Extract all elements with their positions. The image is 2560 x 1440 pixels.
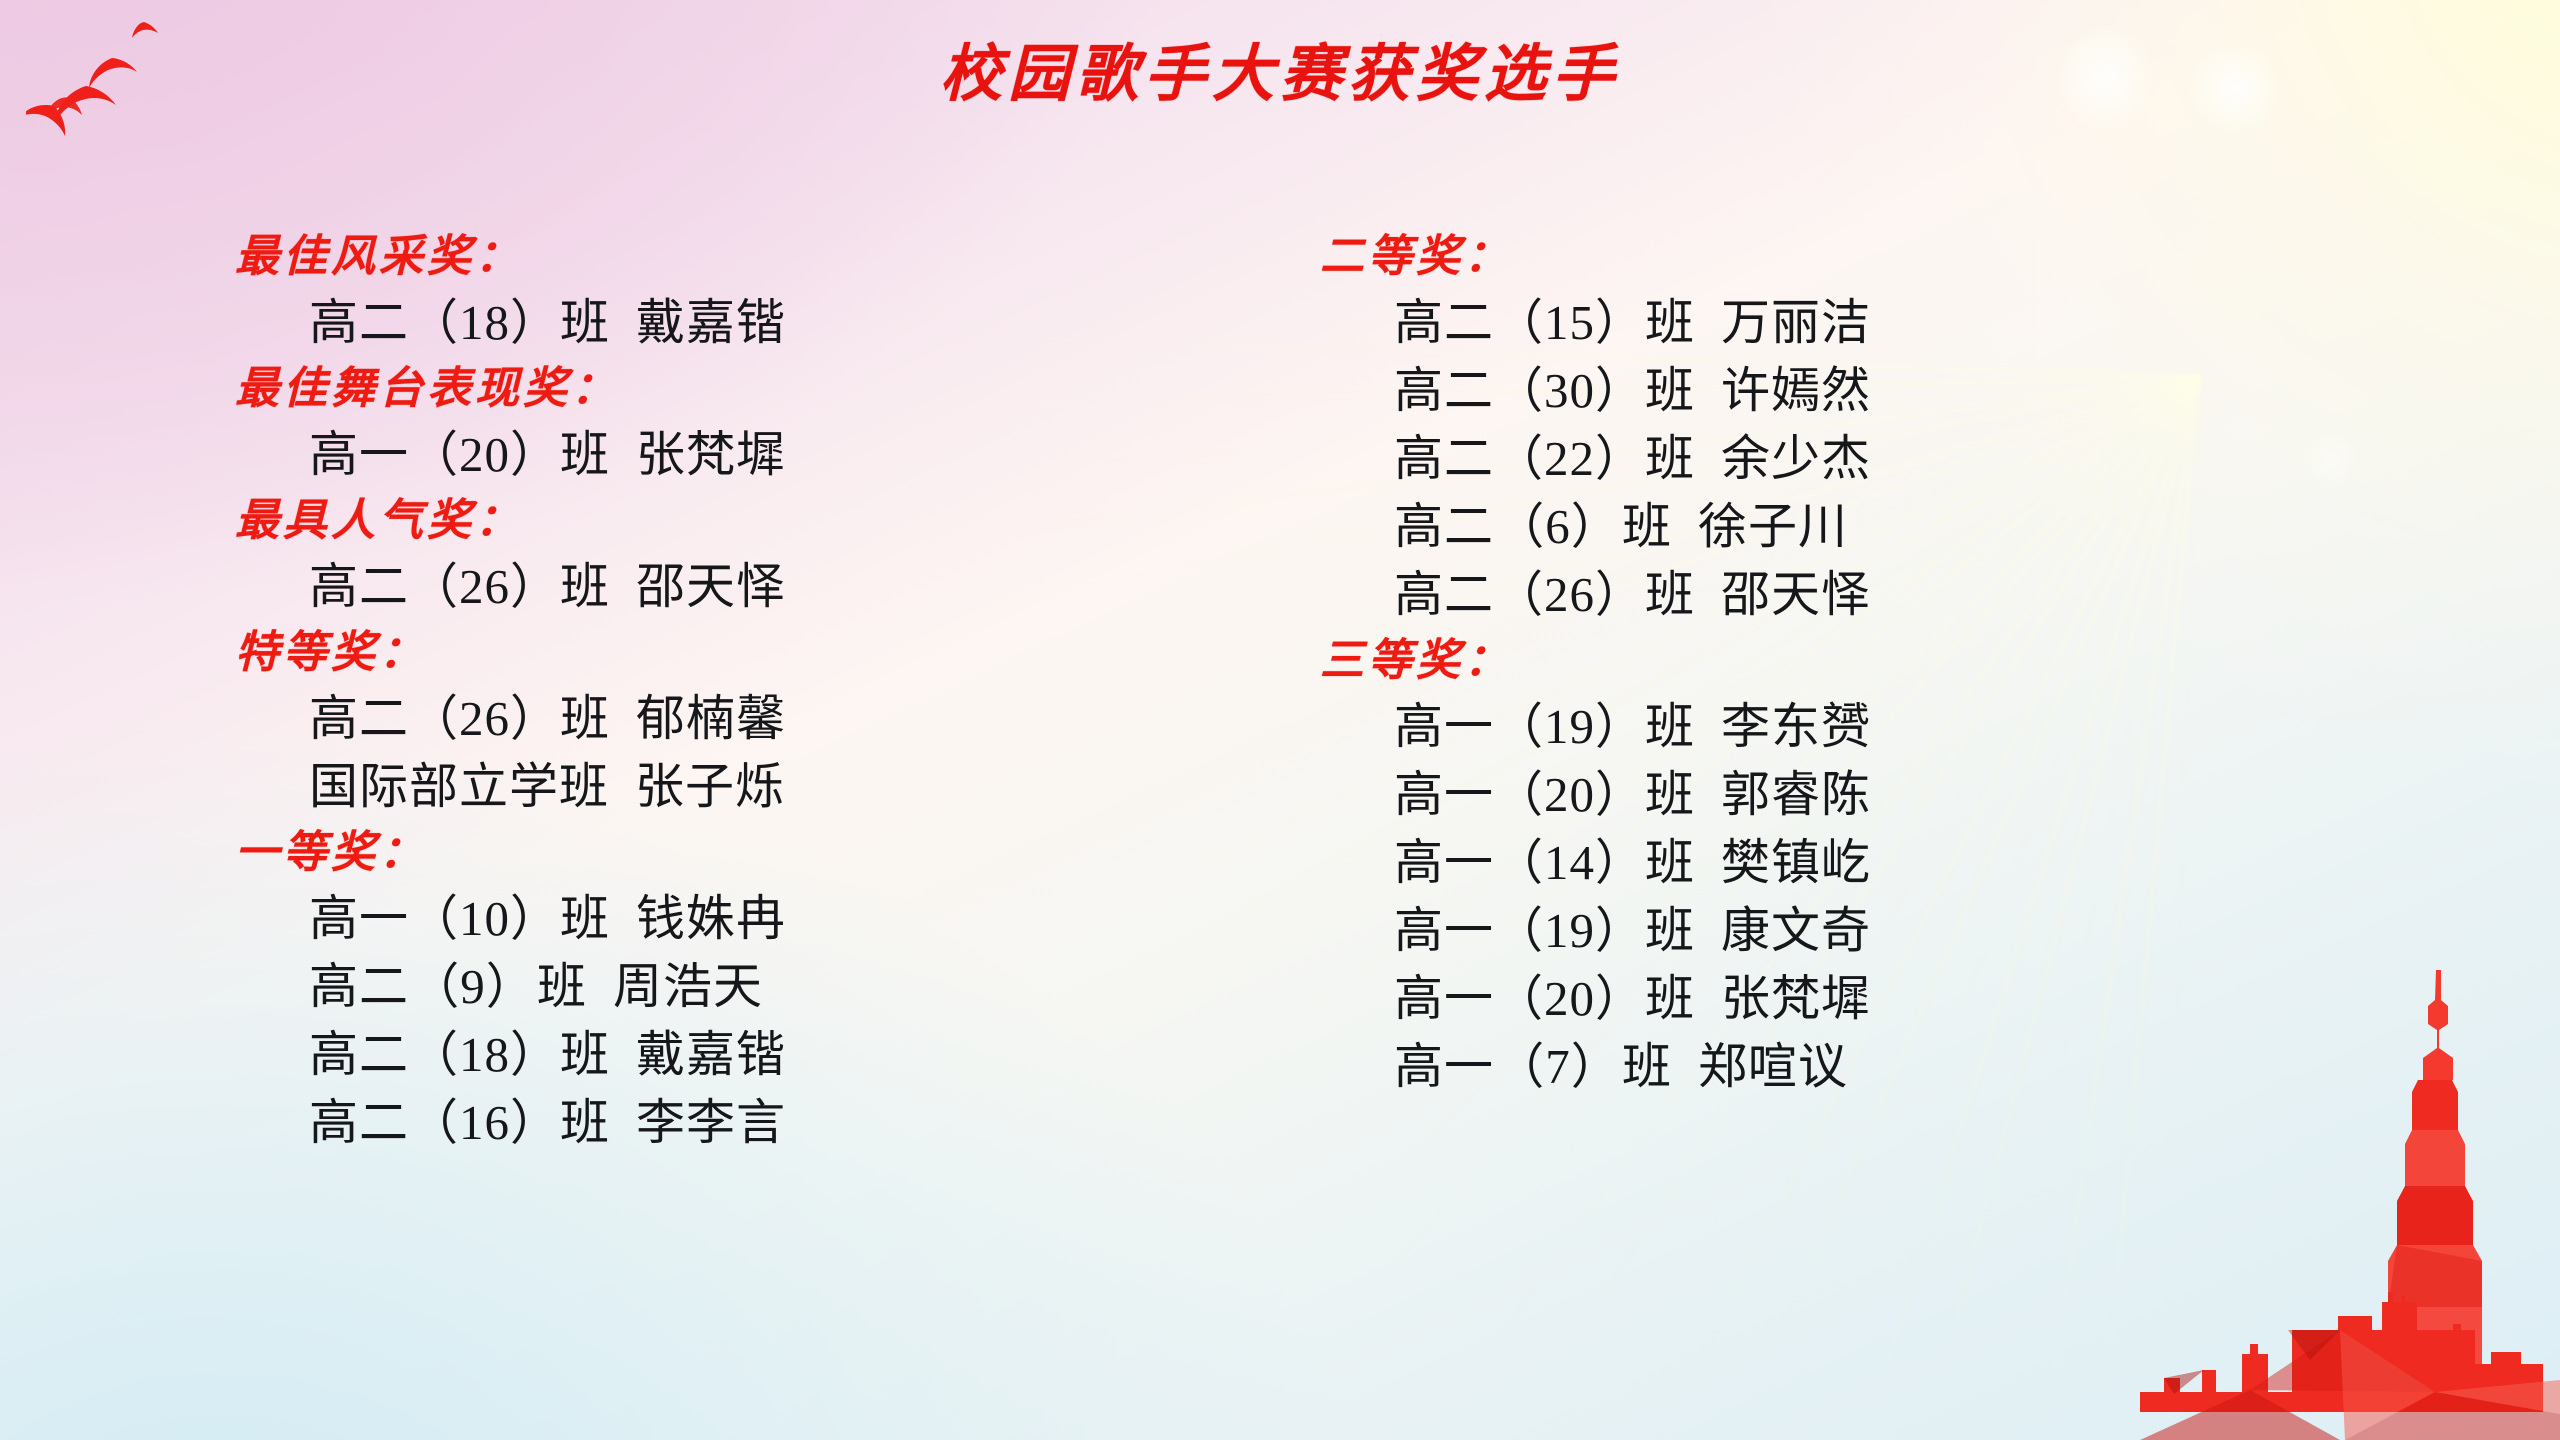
entry-grade: 高二 bbox=[1394, 502, 1494, 551]
award-entry: 高一（19）班康文奇 bbox=[1320, 906, 2320, 955]
entry-student-name: 周浩天 bbox=[587, 962, 763, 1011]
award-entry: 高二（16）班李李言 bbox=[235, 1098, 1235, 1147]
award-entry: 高二（6）班徐子川 bbox=[1320, 502, 2320, 551]
award-entry: 高一（20）班张梵墀 bbox=[235, 430, 1235, 479]
entry-student-name: 郁楠馨 bbox=[610, 694, 786, 743]
award-entry: 高二（26）班邵天怿 bbox=[1320, 570, 2320, 619]
entry-student-name: 郭睿陈 bbox=[1695, 770, 1871, 819]
entry-student-name: 钱姝冉 bbox=[610, 894, 786, 943]
entry-class-suffix: 班 bbox=[537, 962, 587, 1011]
entry-student-name: 李李言 bbox=[610, 1098, 786, 1147]
entry-grade: 高二 bbox=[1394, 298, 1494, 347]
award-entry: 高二（18）班戴嘉锴 bbox=[235, 1030, 1235, 1079]
entry-class-suffix: 班 bbox=[560, 1098, 610, 1147]
entry-class-number: （6） bbox=[1494, 502, 1622, 551]
award-category-heading: 特等奖： bbox=[235, 631, 1235, 675]
entry-student-name: 张子烁 bbox=[609, 762, 785, 811]
entry-class-suffix: 班 bbox=[1645, 974, 1695, 1023]
award-entry: 高一（20）班郭睿陈 bbox=[1320, 770, 2320, 819]
entry-class-suffix: 班 bbox=[560, 894, 610, 943]
entry-class-number: （7） bbox=[1494, 1042, 1622, 1091]
entry-student-name: 戴嘉锴 bbox=[610, 298, 786, 347]
entry-class-number: （18） bbox=[409, 1030, 560, 1079]
award-entry: 高一（10）班钱姝冉 bbox=[235, 894, 1235, 943]
entry-grade: 高二 bbox=[309, 298, 409, 347]
entry-class-number: （26） bbox=[409, 562, 560, 611]
entry-class-suffix: 班 bbox=[1645, 770, 1695, 819]
entry-class-number: （20） bbox=[1494, 974, 1645, 1023]
award-category-heading: 三等奖： bbox=[1320, 639, 2320, 683]
award-category-heading: 二等奖： bbox=[1320, 235, 2320, 279]
entry-class-suffix: 班 bbox=[560, 430, 610, 479]
entry-student-name: 邵天怿 bbox=[610, 562, 786, 611]
entry-grade: 高一 bbox=[1394, 974, 1494, 1023]
entry-student-name: 张梵墀 bbox=[1695, 974, 1871, 1023]
entry-class-suffix: 班 bbox=[1622, 502, 1672, 551]
entry-grade: 高二 bbox=[1394, 366, 1494, 415]
taipei101-skyline-icon bbox=[2140, 960, 2560, 1440]
entry-grade: 高一 bbox=[1394, 702, 1494, 751]
entry-grade: 高二 bbox=[1394, 434, 1494, 483]
award-entry: 高二（18）班戴嘉锴 bbox=[235, 298, 1235, 347]
entry-grade: 高一 bbox=[309, 430, 409, 479]
entry-class-special: 国际部立学班 bbox=[309, 759, 609, 814]
entry-class-suffix: 班 bbox=[560, 562, 610, 611]
award-category-heading: 最佳舞台表现奖： bbox=[235, 367, 1235, 411]
entry-grade: 高二 bbox=[309, 1098, 409, 1147]
entry-grade: 高二 bbox=[309, 694, 409, 743]
award-entry: 高一（19）班李东赟 bbox=[1320, 702, 2320, 751]
entry-class-number: （22） bbox=[1494, 434, 1645, 483]
entry-class-number: （15） bbox=[1494, 298, 1645, 347]
slide-canvas: 校园歌手大赛获奖选手 最佳风采奖：高二（18）班戴嘉锴最佳舞台表现奖：高一（20… bbox=[0, 0, 2560, 1440]
skyline-decoration bbox=[2140, 960, 2560, 1440]
entry-class-number: （16） bbox=[409, 1098, 560, 1147]
entry-class-suffix: 班 bbox=[1645, 366, 1695, 415]
entry-class-number: （14） bbox=[1494, 838, 1645, 887]
entry-grade: 高二 bbox=[309, 962, 409, 1011]
award-entry: 高二（26）班邵天怿 bbox=[235, 562, 1235, 611]
award-entry: 高二（22）班余少杰 bbox=[1320, 434, 2320, 483]
entry-grade: 高一 bbox=[1394, 906, 1494, 955]
award-category-heading: 最具人气奖： bbox=[235, 499, 1235, 543]
entry-class-suffix: 班 bbox=[1645, 570, 1695, 619]
entry-student-name: 戴嘉锴 bbox=[610, 1030, 786, 1079]
entry-class-suffix: 班 bbox=[1645, 434, 1695, 483]
entry-class-number: （18） bbox=[409, 298, 560, 347]
award-entry: 高二（15）班万丽洁 bbox=[1320, 298, 2320, 347]
entry-class-number: （10） bbox=[409, 894, 560, 943]
entry-student-name: 李东赟 bbox=[1695, 702, 1871, 751]
entry-student-name: 郑喧议 bbox=[1672, 1042, 1848, 1091]
entry-student-name: 余少杰 bbox=[1695, 434, 1871, 483]
award-entry: 高二（26）班郁楠馨 bbox=[235, 694, 1235, 743]
entry-class-suffix: 班 bbox=[1645, 298, 1695, 347]
entry-class-number: （9） bbox=[409, 962, 537, 1011]
award-entry: 高二（9）班周浩天 bbox=[235, 962, 1235, 1011]
award-category-heading: 最佳风采奖： bbox=[235, 235, 1235, 279]
entry-grade: 高二 bbox=[309, 562, 409, 611]
award-column-left: 最佳风采奖：高二（18）班戴嘉锴最佳舞台表现奖：高一（20）班张梵墀最具人气奖：… bbox=[235, 235, 1235, 1147]
entry-student-name: 徐子川 bbox=[1672, 502, 1848, 551]
entry-student-name: 康文奇 bbox=[1695, 906, 1871, 955]
entry-student-name: 许嫣然 bbox=[1695, 366, 1871, 415]
entry-student-name: 万丽洁 bbox=[1695, 298, 1871, 347]
award-entry: 高二（30）班许嫣然 bbox=[1320, 366, 2320, 415]
entry-class-suffix: 班 bbox=[1622, 1042, 1672, 1091]
entry-grade: 高一 bbox=[1394, 1042, 1494, 1091]
entry-class-number: （20） bbox=[409, 430, 560, 479]
entry-class-number: （26） bbox=[1494, 570, 1645, 619]
award-entry: 国际部立学班张子烁 bbox=[235, 762, 1235, 811]
entry-grade: 高一 bbox=[1394, 838, 1494, 887]
entry-class-suffix: 班 bbox=[560, 298, 610, 347]
entry-class-number: （20） bbox=[1494, 770, 1645, 819]
entry-student-name: 邵天怿 bbox=[1695, 570, 1871, 619]
award-entry: 高一（14）班樊镇屹 bbox=[1320, 838, 2320, 887]
entry-class-number: （19） bbox=[1494, 702, 1645, 751]
entry-class-suffix: 班 bbox=[1645, 906, 1695, 955]
entry-class-number: （30） bbox=[1494, 366, 1645, 415]
entry-student-name: 樊镇屹 bbox=[1695, 838, 1871, 887]
entry-student-name: 张梵墀 bbox=[610, 430, 786, 479]
entry-class-suffix: 班 bbox=[560, 1030, 610, 1079]
entry-grade: 高一 bbox=[309, 894, 409, 943]
entry-class-number: （26） bbox=[409, 694, 560, 743]
entry-class-suffix: 班 bbox=[1645, 702, 1695, 751]
entry-grade: 高二 bbox=[1394, 570, 1494, 619]
entry-grade: 高二 bbox=[309, 1030, 409, 1079]
award-category-heading: 一等奖： bbox=[235, 831, 1235, 875]
page-title: 校园歌手大赛获奖选手 bbox=[0, 44, 2560, 106]
entry-class-number: （19） bbox=[1494, 906, 1645, 955]
entry-class-suffix: 班 bbox=[560, 694, 610, 743]
entry-class-suffix: 班 bbox=[1645, 838, 1695, 887]
entry-grade: 高一 bbox=[1394, 770, 1494, 819]
